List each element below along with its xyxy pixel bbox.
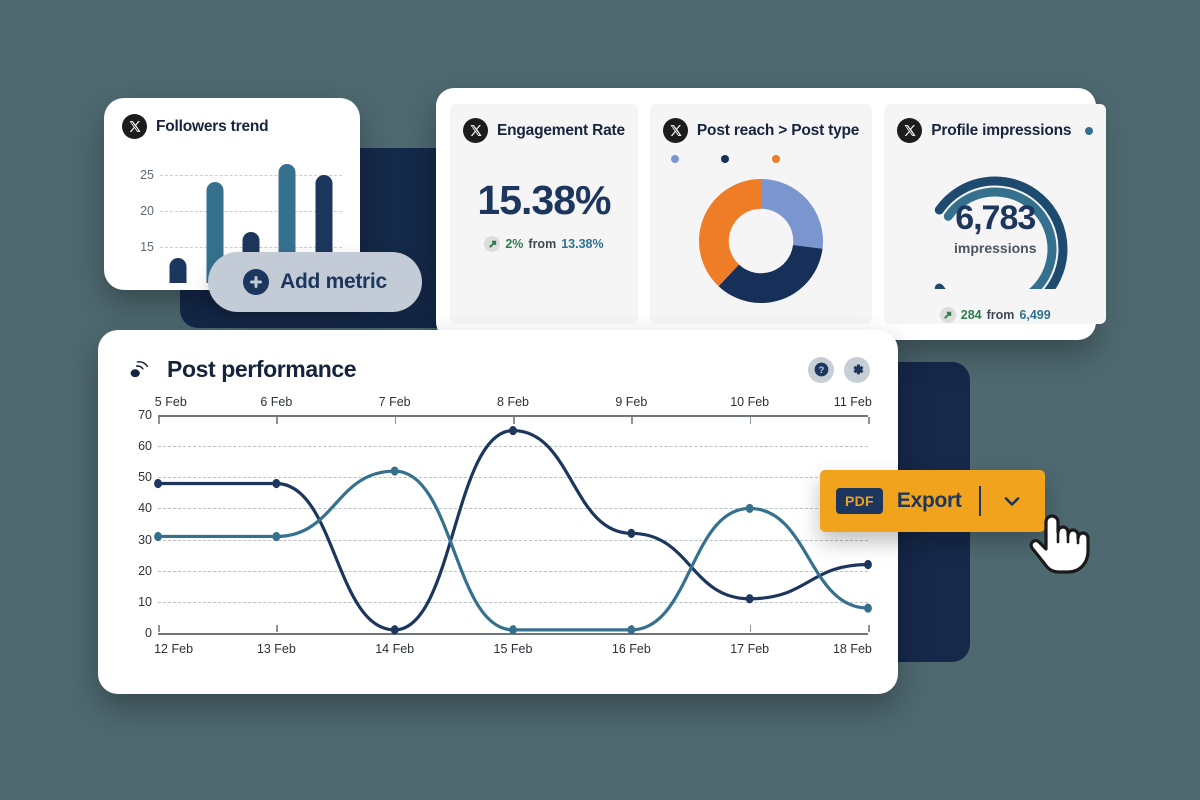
donut-segment[interactable] — [761, 179, 823, 249]
chart-y-axis: 010203040506070 — [122, 397, 152, 657]
profile-value: 6,783 — [897, 201, 1093, 235]
chart-y-tick: 50 — [138, 470, 152, 484]
donut-chart — [663, 171, 859, 311]
donut-legend — [663, 155, 788, 163]
chart-data-point[interactable] — [627, 529, 635, 538]
profile-card-title: Profile impressions — [931, 122, 1071, 140]
help-button[interactable]: ? — [808, 357, 834, 383]
donut-segment[interactable] — [699, 179, 761, 286]
profile-delta-from: from — [987, 308, 1015, 322]
metrics-panel: Engagement Rate 15.38% 2% from 13.38% Po… — [436, 88, 1096, 340]
chart-data-point[interactable] — [391, 625, 399, 634]
chart-data-point[interactable] — [864, 560, 872, 569]
donut-segment[interactable] — [719, 245, 823, 303]
chart-data-point[interactable] — [272, 479, 280, 488]
followers-y-tick: 20 — [140, 204, 154, 218]
chart-data-point[interactable] — [864, 603, 872, 612]
followers-card-title: Followers trend — [156, 118, 268, 136]
engagement-delta-pct: 2% — [505, 237, 523, 251]
arrow-up-right-icon — [940, 307, 956, 323]
gauge-chart: 6,783 impressions — [897, 149, 1093, 289]
engagement-rate-card[interactable]: Engagement Rate 15.38% 2% from 13.38% — [450, 104, 638, 324]
profile-delta-prev: 6,499 — [1019, 308, 1050, 322]
chart-data-point[interactable] — [391, 466, 399, 475]
arrow-up-right-icon — [484, 236, 500, 252]
engagement-delta: 2% from 13.38% — [463, 236, 625, 252]
x-logo-icon — [897, 118, 922, 143]
chart-tick-bottom — [868, 625, 870, 632]
donut-legend-dot[interactable] — [671, 155, 679, 163]
pdf-format-badge: PDF — [836, 488, 883, 514]
engagement-card-title: Engagement Rate — [497, 122, 625, 140]
chart-data-point[interactable] — [746, 594, 754, 603]
post-reach-card[interactable]: Post reach > Post type — [650, 104, 872, 324]
chart-y-tick: 0 — [145, 626, 152, 640]
post-performance-card: Post performance ? 010203040506070 5 Feb… — [98, 330, 898, 694]
audio-note-icon — [128, 357, 154, 383]
chart-series-line — [158, 431, 868, 630]
settings-button[interactable] — [844, 357, 870, 383]
engagement-card-header: Engagement Rate — [463, 118, 625, 143]
profile-series-dot — [1085, 127, 1093, 135]
profile-impressions-card[interactable]: Profile impressions 6,783 impressions 28… — [884, 104, 1106, 324]
post-performance-header: Post performance ? — [98, 330, 898, 383]
post-reach-card-title: Post reach > Post type — [697, 122, 859, 140]
chart-data-point[interactable] — [154, 532, 162, 541]
followers-card-header: Followers trend — [122, 114, 342, 139]
chart-data-point[interactable] — [154, 479, 162, 488]
plus-circle-icon — [243, 269, 269, 295]
engagement-delta-prev: 13.38% — [561, 237, 603, 251]
export-divider — [979, 486, 981, 516]
chart-data-point[interactable] — [509, 426, 517, 435]
gear-icon — [850, 362, 865, 377]
svg-text:?: ? — [818, 365, 824, 375]
profile-delta-pct: 284 — [961, 308, 982, 322]
chart-y-tick: 40 — [138, 501, 152, 515]
followers-gridline — [160, 175, 342, 176]
profile-delta: 284 from 6,499 — [897, 307, 1093, 323]
export-label: Export — [897, 489, 962, 513]
chart-y-tick: 60 — [138, 439, 152, 453]
followers-y-axis: 152025 — [122, 153, 156, 283]
chart-data-point[interactable] — [627, 625, 635, 634]
question-mark-icon: ? — [814, 362, 829, 377]
donut-legend-dot[interactable] — [772, 155, 780, 163]
x-logo-icon — [122, 114, 147, 139]
chart-y-tick: 20 — [138, 564, 152, 578]
export-button[interactable]: PDF Export — [820, 470, 1045, 532]
post-performance-actions: ? — [808, 357, 870, 383]
chart-y-tick: 30 — [138, 533, 152, 547]
chart-data-point[interactable] — [746, 504, 754, 513]
engagement-value: 15.38% — [463, 177, 625, 224]
donut-legend-dot[interactable] — [721, 155, 729, 163]
x-logo-icon — [663, 118, 688, 143]
add-metric-label: Add metric — [280, 270, 387, 294]
chart-tick-top — [868, 417, 870, 424]
followers-bar[interactable] — [170, 258, 187, 283]
followers-y-tick: 15 — [140, 240, 154, 254]
hand-pointer-icon — [1016, 500, 1102, 586]
chart-y-tick: 70 — [138, 408, 152, 422]
chart-series-layer — [158, 397, 868, 657]
dashboard-stage: Followers trend 152025 Engagement Rate 1… — [0, 0, 1200, 800]
chart-series-line — [158, 471, 868, 630]
chart-data-point[interactable] — [509, 625, 517, 634]
post-performance-title: Post performance — [167, 356, 356, 383]
gauge-center-labels: 6,783 impressions — [897, 201, 1093, 256]
followers-y-tick: 25 — [140, 168, 154, 182]
post-reach-card-header: Post reach > Post type — [663, 118, 859, 143]
add-metric-button[interactable]: Add metric — [208, 252, 422, 312]
profile-card-header: Profile impressions — [897, 118, 1093, 143]
chart-y-tick: 10 — [138, 595, 152, 609]
post-performance-chart: 010203040506070 5 Feb6 Feb7 Feb8 Feb9 Fe… — [122, 397, 874, 657]
chart-plot-area: 5 Feb6 Feb7 Feb8 Feb9 Feb10 Feb11 Feb12 … — [158, 397, 868, 657]
engagement-delta-from: from — [528, 237, 556, 251]
profile-unit-label: impressions — [897, 240, 1093, 256]
chart-data-point[interactable] — [272, 532, 280, 541]
x-logo-icon — [463, 118, 488, 143]
